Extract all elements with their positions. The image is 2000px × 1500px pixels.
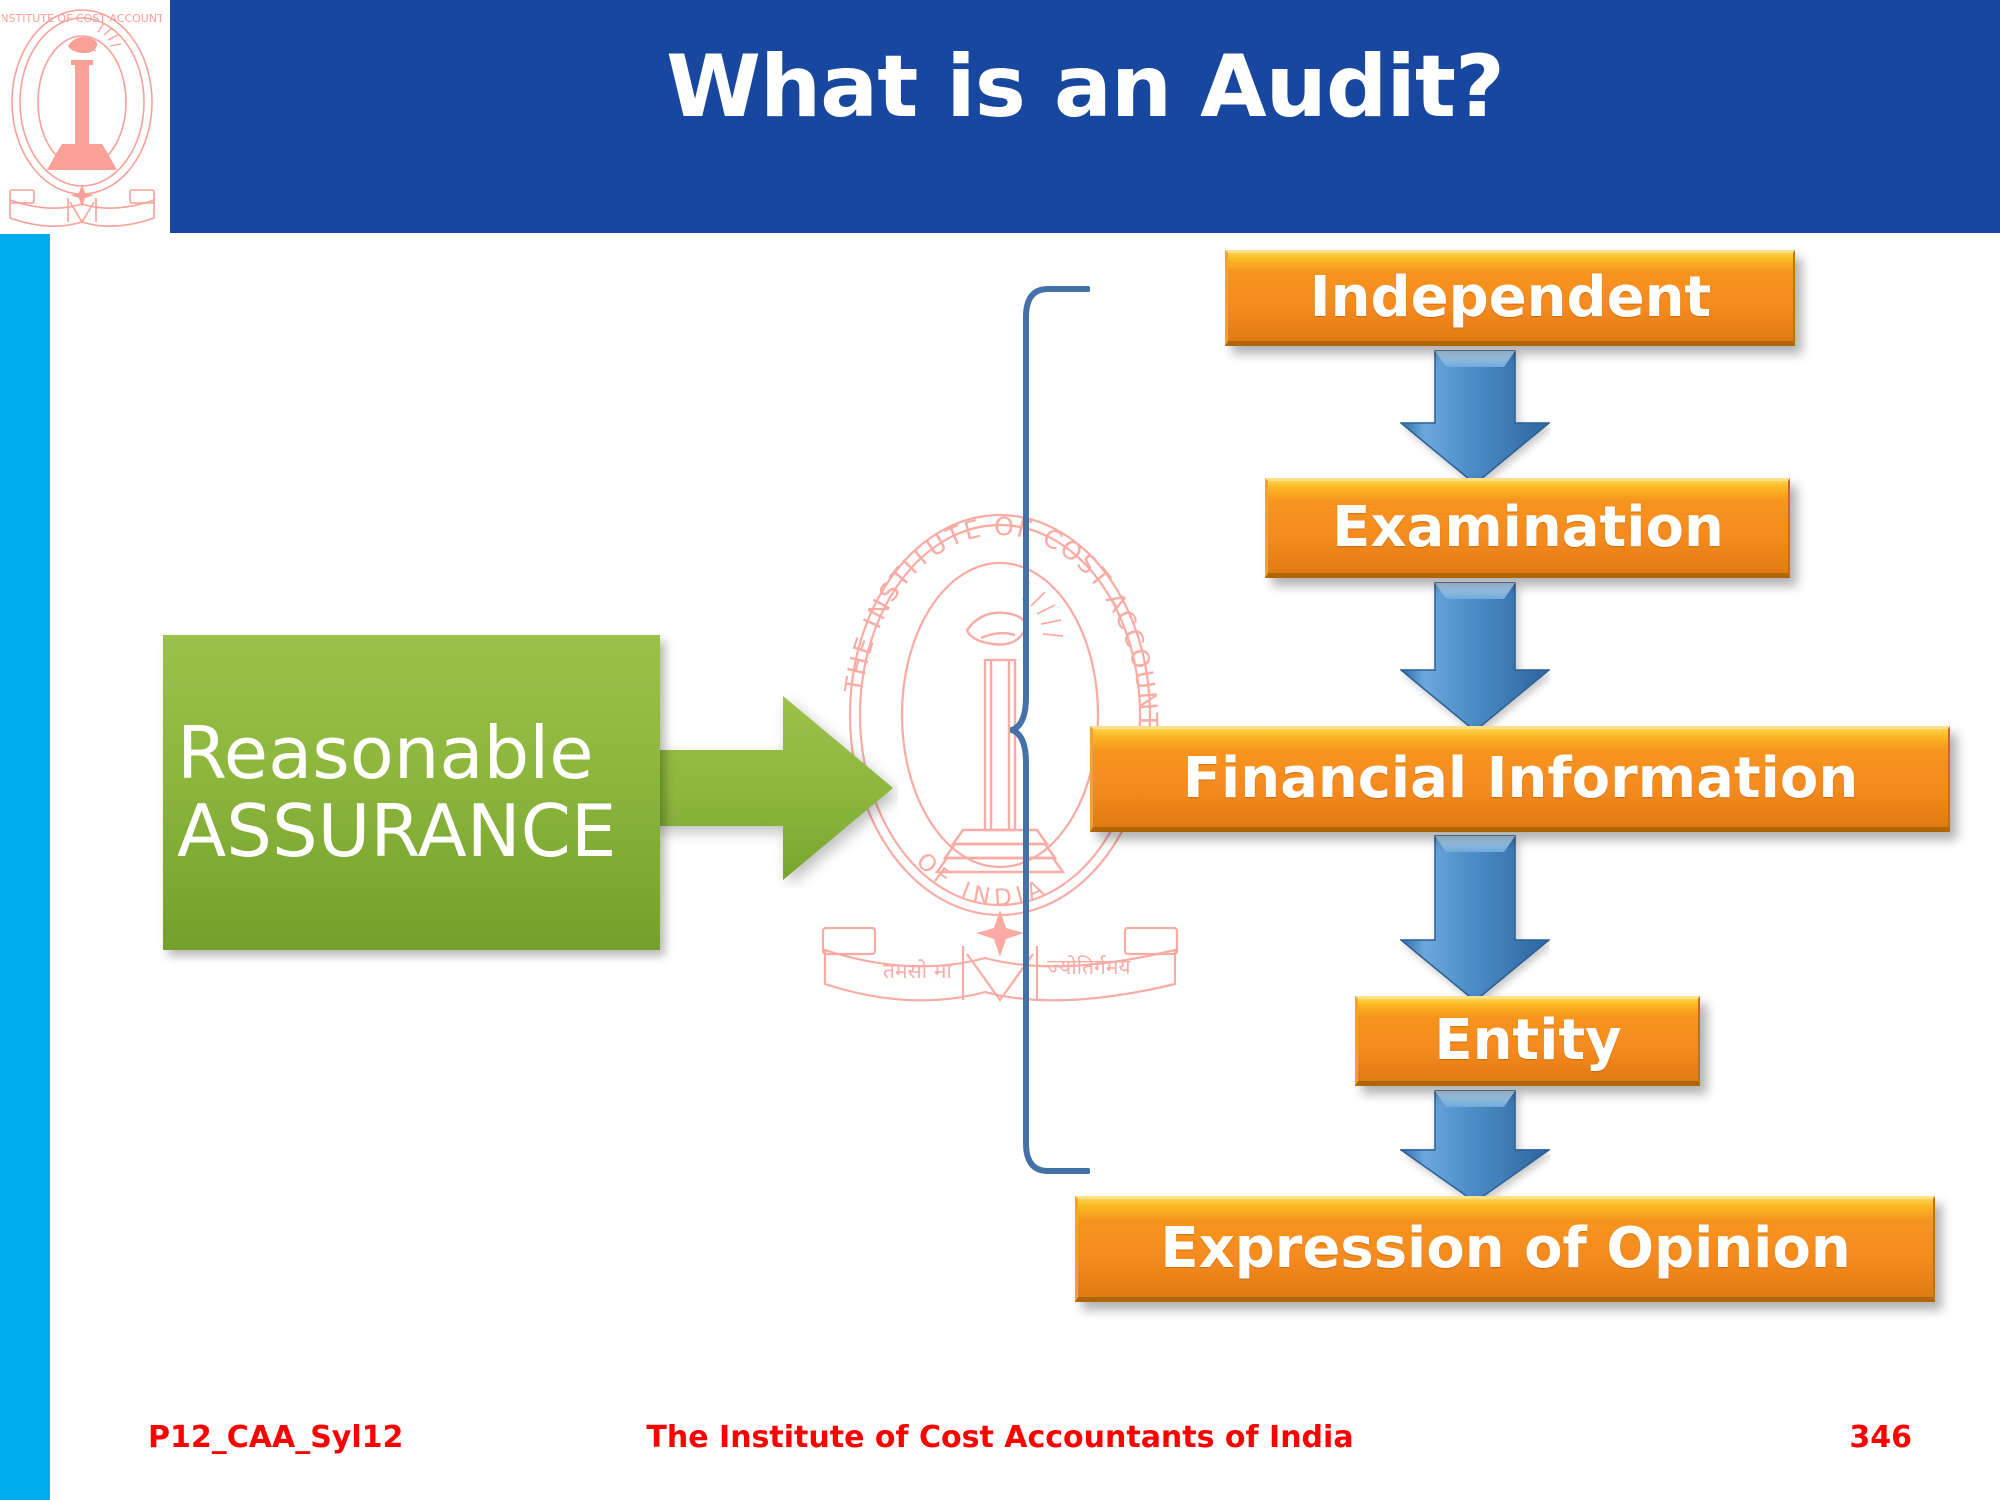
flow-step-label: Independent bbox=[1310, 265, 1711, 330]
flow-step-box-entity[interactable]: Entity bbox=[1355, 996, 1700, 1086]
flow-step-box-independent[interactable]: Independent bbox=[1225, 250, 1795, 346]
watermark-banner-left: तमसो मा bbox=[883, 959, 952, 983]
flow-step-label: Examination bbox=[1332, 495, 1724, 560]
left-curly-brace bbox=[1010, 285, 1090, 1175]
arrow-independent-to-examination bbox=[1400, 345, 1550, 485]
footer-page-number: 346 bbox=[1849, 1420, 1912, 1455]
flow-step-box-expression-of-opinion[interactable]: Expression of Opinion bbox=[1075, 1196, 1935, 1302]
arrow-examination-to-financial bbox=[1400, 577, 1550, 732]
reasonable-assurance-box: Reasonable ASSURANCE bbox=[163, 635, 660, 950]
flow-step-box-financial-information[interactable]: Financial Information bbox=[1090, 726, 1950, 832]
reasonable-assurance-callout: Reasonable ASSURANCE bbox=[163, 630, 893, 955]
slide-canvas: What is an Audit? TH bbox=[0, 0, 2000, 1500]
callout-line-2: ASSURANCE bbox=[177, 793, 660, 871]
flow-step-label: Entity bbox=[1434, 1008, 1621, 1073]
slide-footer: P12_CAA_Syl12 The Institute of Cost Acco… bbox=[0, 1420, 2000, 1480]
page-title: What is an Audit? bbox=[170, 40, 2000, 135]
left-accent-strip bbox=[0, 234, 50, 1500]
flow-step-label: Expression of Opinion bbox=[1160, 1216, 1850, 1281]
arrow-entity-to-expression bbox=[1400, 1085, 1550, 1203]
flow-step-box-examination[interactable]: Examination bbox=[1265, 478, 1790, 578]
callout-line-1: Reasonable bbox=[177, 715, 660, 793]
logo-ring-text: THE INSTITUTE OF COST ACCOUNTANTS bbox=[2, 12, 162, 25]
icai-logo-icon: THE INSTITUTE OF COST ACCOUNTANTS bbox=[2, 2, 162, 230]
flow-step-label: Financial Information bbox=[1183, 746, 1858, 811]
green-right-arrow-icon bbox=[653, 688, 898, 888]
footer-institute-name: The Institute of Cost Accountants of Ind… bbox=[0, 1420, 2000, 1455]
arrow-financial-to-entity bbox=[1400, 830, 1550, 1002]
